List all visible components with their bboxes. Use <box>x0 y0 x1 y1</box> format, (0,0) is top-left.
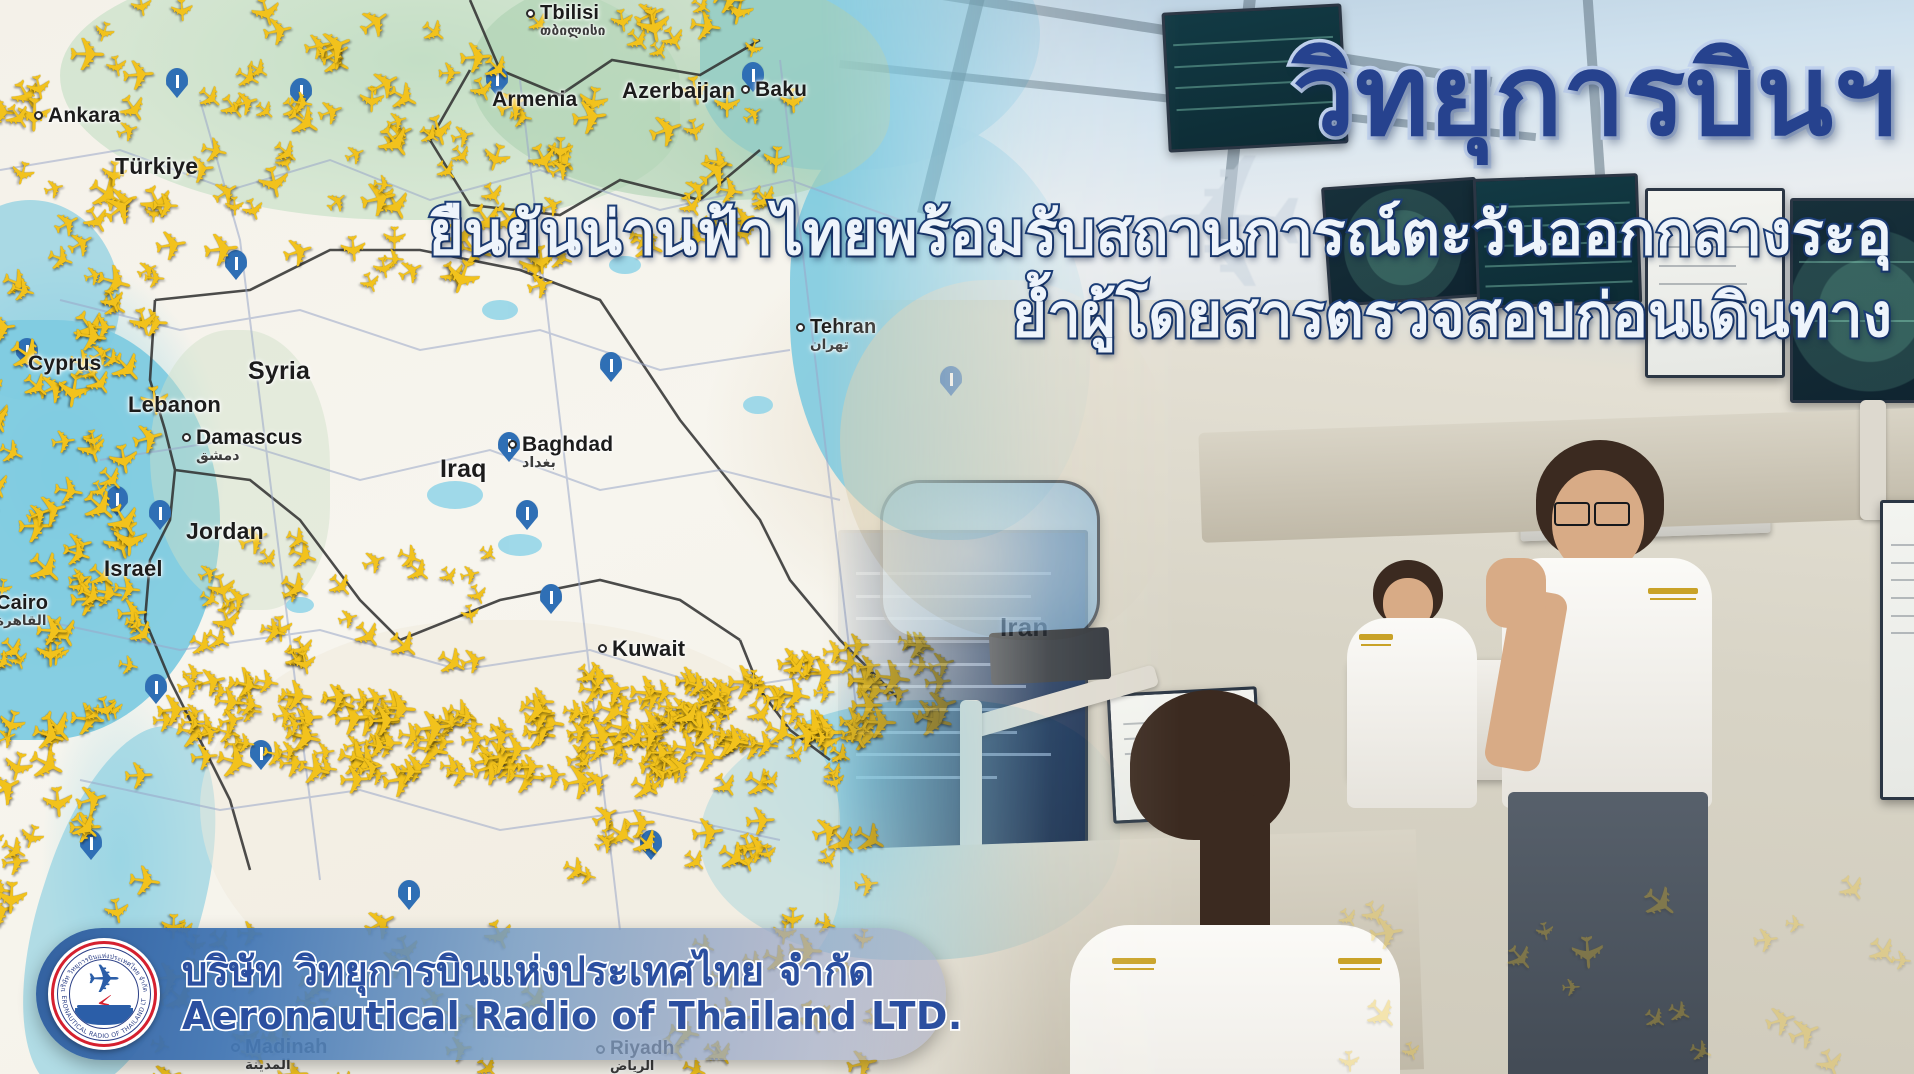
map-label-damascus: Damascusدمشق <box>196 426 303 464</box>
aircraft-icon[interactable]: ✈ <box>165 0 197 24</box>
rank-epaulette <box>1359 634 1393 640</box>
aircraft-icon[interactable]: ✈ <box>377 225 409 252</box>
map-label-kuwait: Kuwait <box>612 636 685 662</box>
map-label-t-rkiye: Türkiye <box>115 153 198 180</box>
map-label-tbilisi: Tbilisiთბილისი <box>540 2 606 39</box>
brand-name-english: Aeronautical Radio of Thailand LTD. <box>182 995 963 1039</box>
map-label-native: الرياض <box>610 1058 675 1074</box>
rank-epaulette <box>1112 958 1156 964</box>
aircraft-icon[interactable]: ✈ <box>739 669 766 692</box>
aircraft-icon[interactable]: ✈ <box>393 755 423 791</box>
map-label-lebanon: Lebanon <box>128 392 221 418</box>
document-monitor[interactable] <box>1880 500 1914 800</box>
subtitle-line-1: ยืนยันน่านฟ้าไทยพร้อมรับสถานการณ์ตะวันออ… <box>429 186 1892 281</box>
eyeglasses <box>1554 502 1590 526</box>
map-label-israel: Israel <box>104 556 163 582</box>
aircraft-icon[interactable]: ✈ <box>48 424 79 459</box>
map-label-cairo: Cairoالقاهرة <box>0 592 48 629</box>
subtitle-line-2: ย้ำผู้โดยสารตรวจสอบก่อนเดินทาง <box>1012 268 1892 363</box>
aircraft-icon[interactable]: ✈ <box>274 736 303 769</box>
uniform-shirt <box>1347 618 1477 808</box>
aircraft-icon[interactable]: ✈ <box>220 194 247 217</box>
map-label-iraq: Iraq <box>440 455 487 484</box>
brand-name-block: บริษัท วิทยุการบินแห่งประเทศไทย จำกัด Ae… <box>182 949 963 1039</box>
map-label-cyprus: Cyprus <box>28 352 102 376</box>
aircraft-icon[interactable]: ✈ <box>96 894 135 928</box>
map-label-syria: Syria <box>248 357 310 386</box>
aircraft-icon[interactable]: ✈ <box>142 264 167 293</box>
map-label-jordan: Jordan <box>186 518 264 545</box>
aircraft-icon[interactable]: ✈ <box>199 225 243 275</box>
eyeglasses <box>1594 502 1630 526</box>
aircraft-icon[interactable]: ✈ <box>318 678 356 721</box>
map-label-native: دمشق <box>196 448 303 464</box>
aircraft-icon[interactable]: ✈ <box>122 757 155 796</box>
aircraft-icon: ✈ <box>1750 923 1782 960</box>
map-label-native: თბილისი <box>540 23 606 39</box>
page-title: วิทยุการบินฯ <box>1292 6 1896 184</box>
logo-emblem-center: ✈ ⚡ <box>69 959 139 1029</box>
aircraft-icon[interactable]: ✈ <box>352 84 388 114</box>
brand-name-thai: บริษัท วิทยุการบินแห่งประเทศไทย จำกัด <box>182 949 963 995</box>
map-label-azerbaijan: Azerbaijan <box>622 78 735 104</box>
aerothai-logo: บริษัท วิทยุการบินแห่งประเทศไทย จำกัด AE… <box>48 938 160 1050</box>
brand-footer-bar: บริษัท วิทยุการบินแห่งประเทศไทย จำกัด AE… <box>36 928 946 1060</box>
city-dot <box>796 323 805 332</box>
aircraft-icon[interactable]: ✈ <box>0 878 32 918</box>
aircraft-icon[interactable]: ✈ <box>514 749 546 786</box>
map-label-baku: Baku <box>755 78 807 102</box>
aircraft-icon[interactable]: ✈ <box>442 755 476 794</box>
aircraft-icon: ✈ <box>1560 976 1582 1001</box>
city-dot <box>526 9 535 18</box>
aircraft-icon[interactable]: ✈ <box>333 233 371 266</box>
map-label-ankara: Ankara <box>48 104 120 128</box>
city-dot <box>598 644 607 653</box>
logo-base-fill <box>75 1008 132 1026</box>
aircraft-icon[interactable]: ✈ <box>437 60 463 91</box>
map-label-native: القاهرة <box>0 613 48 629</box>
aircraft-icon[interactable]: ✈ <box>364 700 403 745</box>
aircraft-icon[interactable]: ✈ <box>756 143 795 177</box>
articulating-arm <box>960 700 982 850</box>
desk-phone[interactable] <box>989 627 1112 685</box>
map-label-armenia: Armenia <box>492 88 577 112</box>
poster-canvas: ✈✈✈✈✈✈✈✈✈✈✈✈✈✈✈✈✈✈✈✈✈✈✈✈✈✈✈✈✈✈✈✈✈✈✈✈✈✈✈✈… <box>0 0 1914 1074</box>
aircraft-icon[interactable]: ✈ <box>150 189 180 224</box>
map-label-native: بغداد <box>522 455 613 471</box>
aircraft-icon[interactable]: ✈ <box>742 802 778 844</box>
map-label-baghdad: Baghdadبغداد <box>522 433 613 471</box>
wall-display <box>880 480 1100 640</box>
aircraft-icon: ✈ <box>1529 918 1558 944</box>
aircraft-icon: ✈ <box>1332 1048 1363 1074</box>
aircraft-icon: ✈ <box>1562 932 1609 973</box>
aircraft-icon: ✈ <box>1782 912 1806 939</box>
aircraft-icon[interactable]: ✈ <box>370 170 396 199</box>
rank-epaulette <box>1648 588 1698 594</box>
hand <box>1486 558 1546 628</box>
